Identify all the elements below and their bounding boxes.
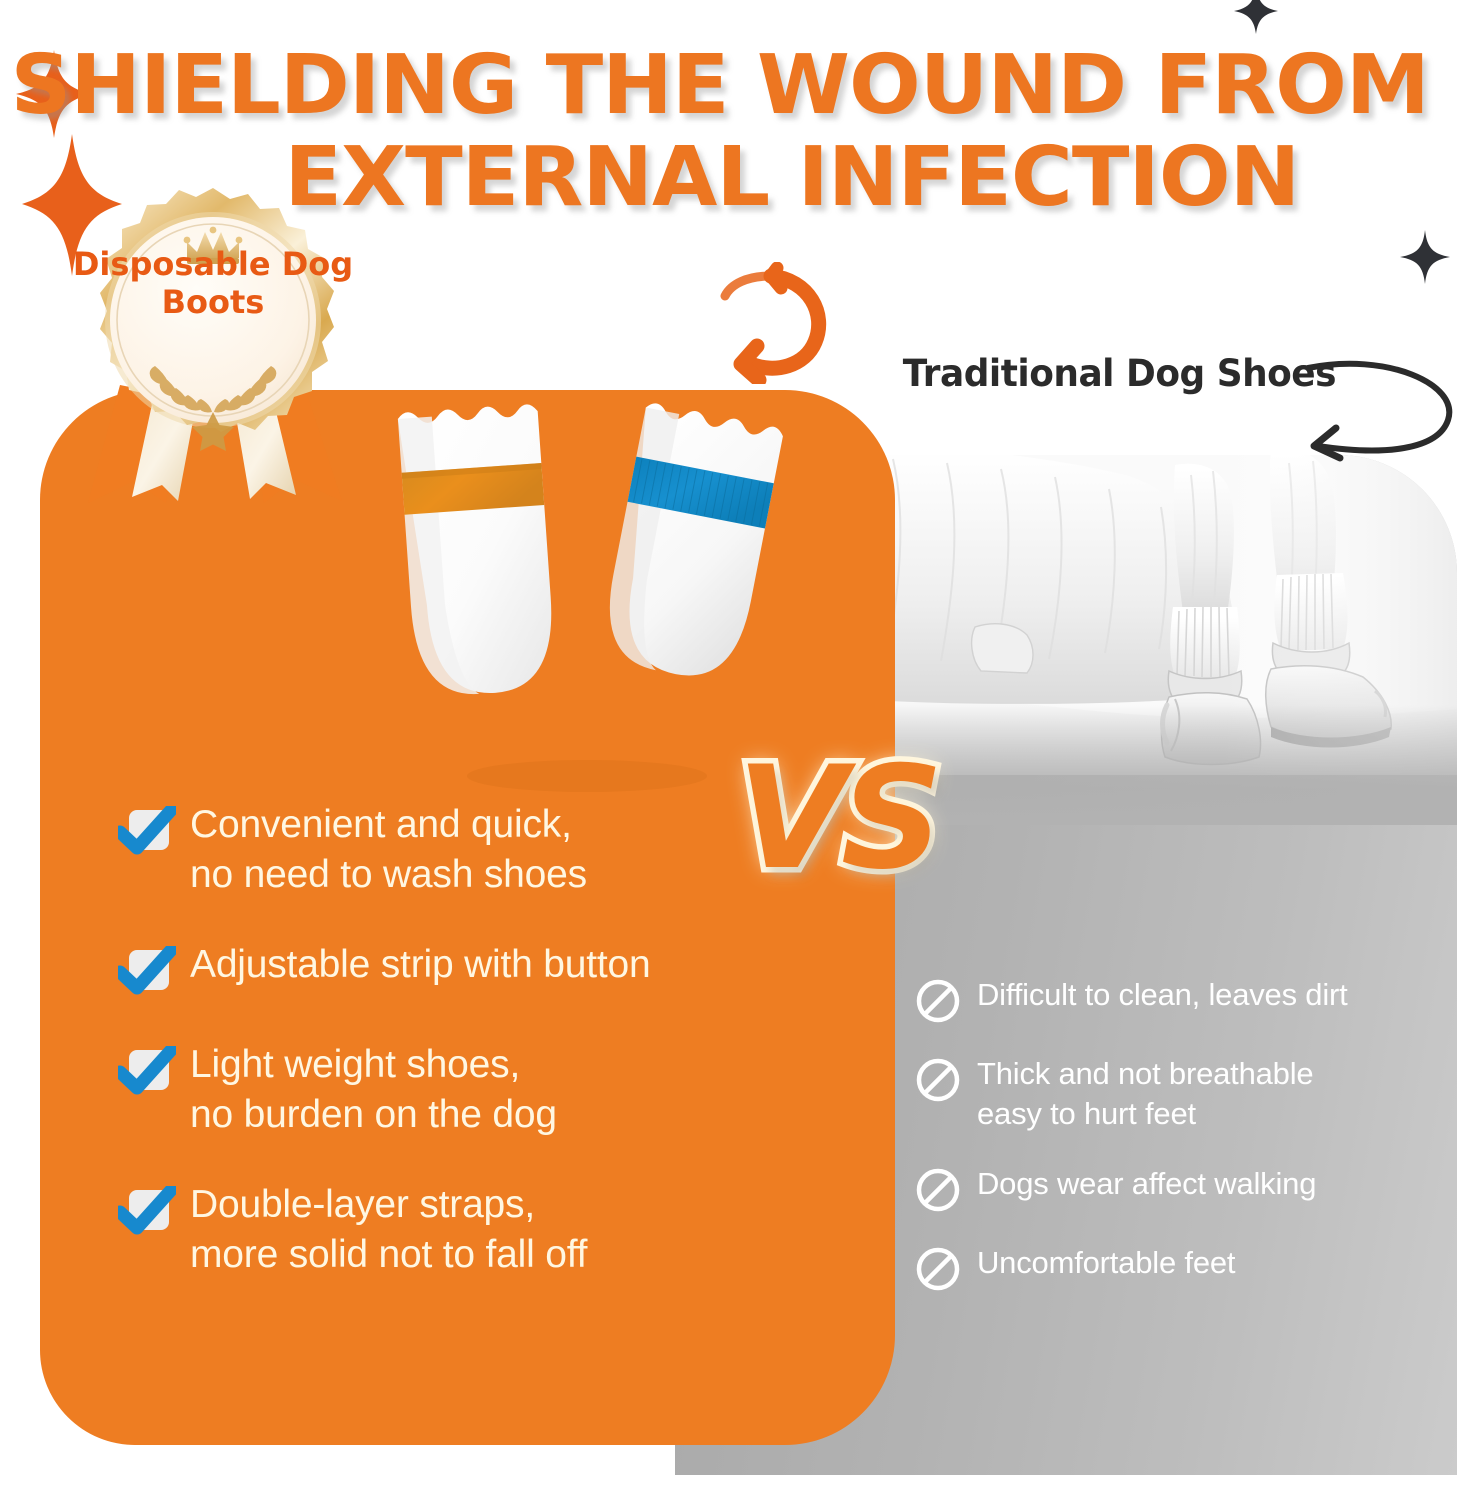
list-item-label: Uncomfortable feet xyxy=(977,1243,1235,1283)
badge-seal-icon xyxy=(58,185,368,505)
checkbox-check-icon xyxy=(118,946,176,1000)
list-item: Dogs wear affect walking xyxy=(915,1164,1435,1213)
prohibition-icon xyxy=(915,1246,961,1292)
list-item: Convenient and quick, no need to wash sh… xyxy=(118,800,838,900)
prohibition-icon xyxy=(915,978,961,1024)
headline-line-1: SHIELDING THE WOUND FROM xyxy=(0,40,1460,132)
disposable-dog-boots-badge: Disposable Dog Boots xyxy=(58,185,368,505)
sparkle-dark-large-icon xyxy=(1398,228,1452,286)
checkbox-check-icon xyxy=(118,1046,176,1100)
list-item-label: Difficult to clean, leaves dirt xyxy=(977,975,1348,1015)
list-item-label: Light weight shoes, no burden on the dog xyxy=(190,1040,557,1140)
vs-badge: VS xyxy=(737,748,937,890)
list-item: Adjustable strip with button xyxy=(118,940,838,1000)
checkbox-check-icon xyxy=(118,806,176,860)
advantages-list: Convenient and quick, no need to wash sh… xyxy=(118,800,838,1280)
curled-arrow-icon xyxy=(693,262,843,384)
badge-label: Disposable Dog Boots xyxy=(58,245,368,321)
list-item-label: Convenient and quick, no need to wash sh… xyxy=(190,800,587,900)
disadvantages-list: Difficult to clean, leaves dirt Thick an… xyxy=(915,975,1435,1292)
list-item-label: Double-layer straps, more solid not to f… xyxy=(190,1180,587,1280)
list-item: Light weight shoes, no burden on the dog xyxy=(118,1040,838,1140)
list-item-label: Dogs wear affect walking xyxy=(977,1164,1316,1204)
list-item-label: Thick and not breathable easy to hurt fe… xyxy=(977,1054,1313,1134)
list-item: Uncomfortable feet xyxy=(915,1243,1435,1292)
list-item: Double-layer straps, more solid not to f… xyxy=(118,1180,838,1280)
traditional-shoes-title: Traditional Dog Shoes xyxy=(903,352,1336,395)
curved-arrow-left-icon xyxy=(1288,358,1460,470)
list-item: Thick and not breathable easy to hurt fe… xyxy=(915,1054,1435,1134)
list-item: Difficult to clean, leaves dirt xyxy=(915,975,1435,1024)
list-item-label: Adjustable strip with button xyxy=(190,940,651,990)
prohibition-icon xyxy=(915,1167,961,1213)
prohibition-icon xyxy=(915,1057,961,1103)
checkbox-check-icon xyxy=(118,1186,176,1240)
sparkle-dark-small-icon xyxy=(1232,0,1280,36)
